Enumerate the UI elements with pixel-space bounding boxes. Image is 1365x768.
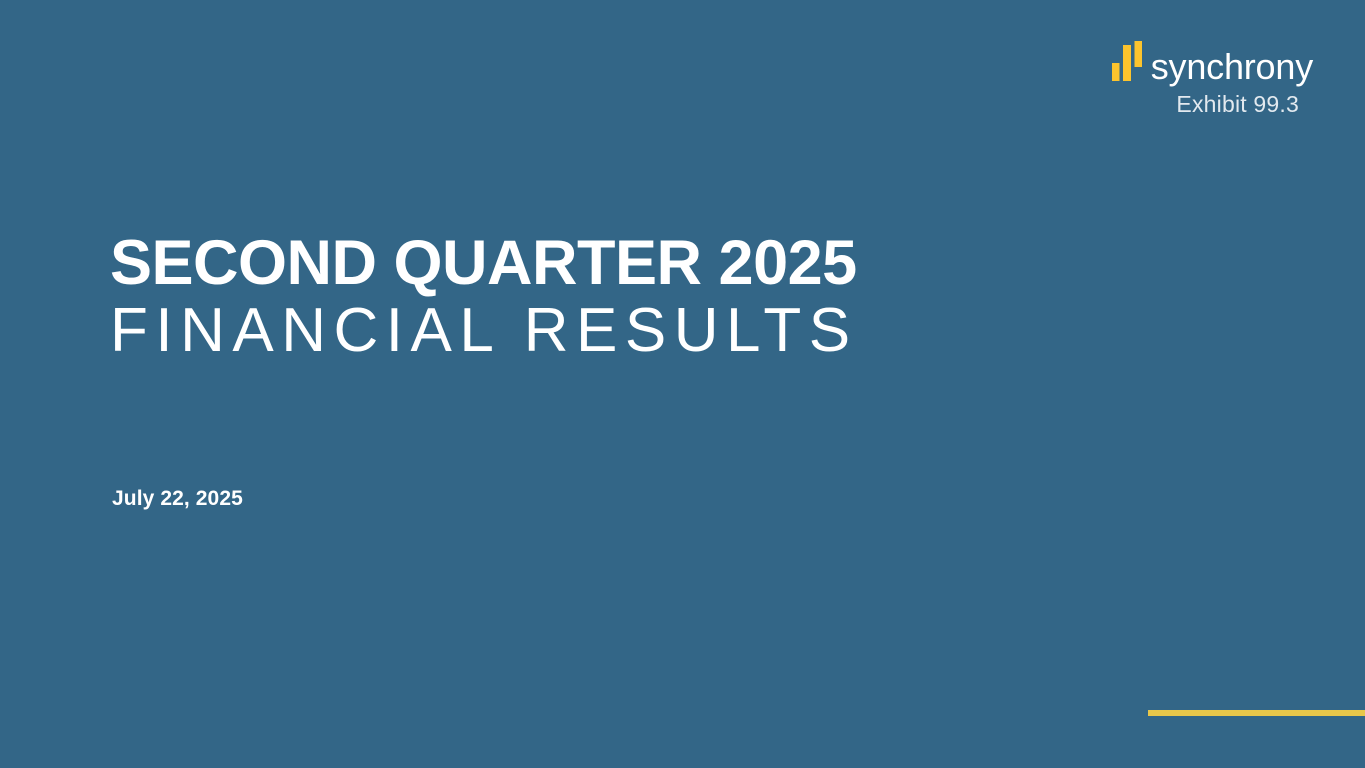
brand-block: synchrony Exhibit 99.3 [1112,40,1313,118]
synchrony-bars-logo-icon [1112,41,1142,81]
presentation-date: July 22, 2025 [112,487,243,511]
bottom-right-accent-rule [1148,710,1365,716]
page-title: SECOND QUARTER 2025 FINANCIAL RESULTS [110,232,858,367]
title-slide: synchrony Exhibit 99.3 SECOND QUARTER 20… [0,0,1365,768]
title-line-primary: SECOND QUARTER 2025 [110,232,858,295]
title-line-secondary: FINANCIAL RESULTS [110,295,858,367]
synchrony-logo-lockup: synchrony [1112,40,1313,82]
exhibit-label: Exhibit 99.3 [1176,91,1299,118]
synchrony-wordmark: synchrony [1151,50,1313,84]
